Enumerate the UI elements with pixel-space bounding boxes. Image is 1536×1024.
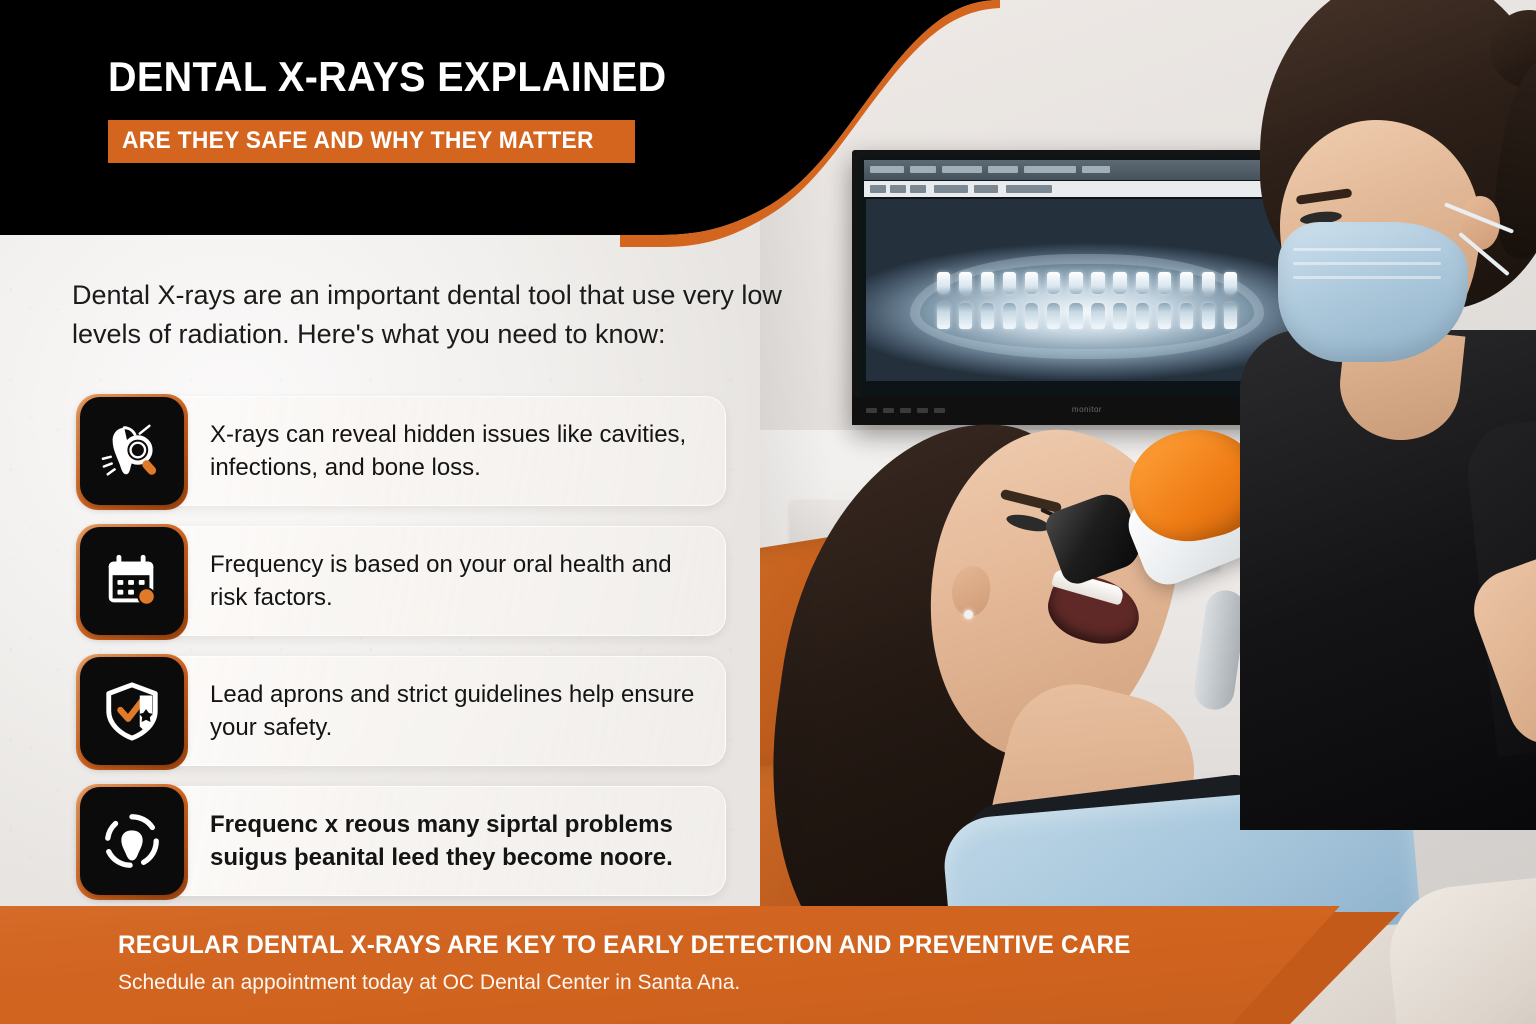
tooth-magnifier-icon: [80, 397, 184, 505]
header-text-group: DENTAL X-RAYS EXPLAINED ARE THEY SAFE AN…: [108, 56, 808, 163]
fact-card[interactable]: X-rays can reveal hidden issues like cav…: [78, 396, 726, 506]
lower-teeth-row: [937, 303, 1238, 329]
patient-earring: [964, 610, 973, 619]
page-title: DENTAL X-RAYS EXPLAINED: [108, 56, 766, 98]
header-banner: DENTAL X-RAYS EXPLAINED ARE THEY SAFE AN…: [0, 0, 1000, 300]
fact-card[interactable]: Lead aprons and strict guidelines help e…: [78, 656, 726, 766]
monitor-brand-label: monitor: [1072, 405, 1102, 414]
footer-banner: REGULAR DENTAL X-RAYS ARE KEY TO EARLY D…: [0, 906, 1536, 1024]
intro-paragraph: Dental X-rays are an important dental to…: [72, 276, 792, 354]
footer-text-group: REGULAR DENTAL X-RAYS ARE KEY TO EARLY D…: [118, 932, 1298, 994]
fact-card-text: Frequency is based on your oral health a…: [184, 548, 725, 614]
fact-card[interactable]: Frequenc x reous many siprtal problems s…: [78, 786, 726, 896]
subtitle-badge: ARE THEY SAFE AND WHY THEY MATTER: [108, 120, 635, 163]
page-subtitle: ARE THEY SAFE AND WHY THEY MATTER: [122, 129, 594, 153]
fact-card[interactable]: Frequency is based on your oral health a…: [78, 526, 726, 636]
fact-card-text: Frequenc x reous many siprtal problems s…: [184, 808, 725, 874]
shield-check-icon: [80, 657, 184, 765]
tooth-cycle-icon: [80, 787, 184, 895]
monitor-buttons: [866, 408, 945, 413]
fact-card-list: X-rays can reveal hidden issues like cav…: [78, 396, 726, 916]
fact-card-text: Lead aprons and strict guidelines help e…: [184, 678, 725, 744]
calendar-icon: [80, 527, 184, 635]
fact-card-text: X-rays can reveal hidden issues like cav…: [184, 418, 725, 484]
surgical-mask: [1278, 222, 1468, 362]
footer-subline: Schedule an appointment today at OC Dent…: [118, 971, 1298, 994]
footer-headline: REGULAR DENTAL X-RAYS ARE KEY TO EARLY D…: [118, 932, 1263, 960]
infographic-canvas: monitor: [0, 0, 1536, 1024]
